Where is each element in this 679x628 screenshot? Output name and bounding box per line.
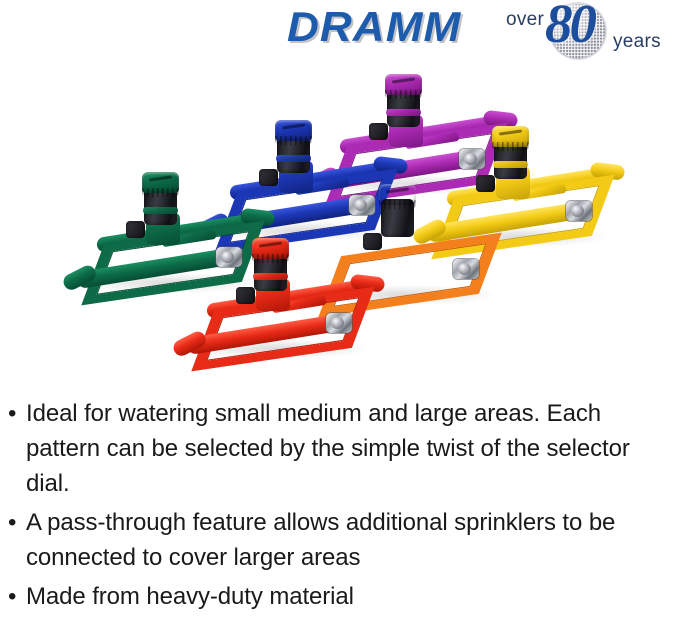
bullet-icon: • [8,396,16,431]
hose-fitting-icon [453,259,479,279]
bullet-icon: • [8,579,16,614]
side-knob-icon [126,221,145,238]
sprinkler-body-ring [253,273,288,280]
feature-text: Made from heavy-duty material [26,583,354,610]
selector-dial-ridges [492,142,529,151]
sprinkler-body-ring [386,109,421,116]
badge-years-label: years [613,31,661,53]
sprinkler-body-ring [380,219,415,226]
selector-dial-ridges [252,254,289,263]
sprinkler-body-ring [493,161,528,168]
feature-item: •A pass-through feature allows additiona… [0,505,665,575]
selector-dial-ridges [385,90,422,99]
badge-over-label: over [506,9,544,31]
feature-text: A pass-through feature allows additional… [26,509,615,571]
hose-fitting-icon [566,201,592,221]
feature-text: Ideal for watering small medium and larg… [26,400,630,497]
logo-bar: DRAMM over 80 years [0,0,679,62]
sprinkler-body-ring [276,155,311,162]
bullet-icon: • [8,505,16,540]
sprinkler-red [180,243,380,375]
selector-dial-ridges [379,200,416,209]
selector-dial-ridges [275,136,312,145]
selector-dial-ridges [142,188,179,197]
feature-list: •Ideal for watering small medium and lar… [0,396,679,618]
dramm-wordmark: DRAMM [287,6,461,48]
hose-fitting-icon [326,313,352,333]
feature-item: •Ideal for watering small medium and lar… [0,396,665,501]
feature-item: •Made from heavy-duty material [0,579,665,614]
product-photo [0,55,679,385]
side-knob-icon [236,287,255,304]
anniversary-badge: over 80 years [503,2,679,62]
badge-number: 80 [545,0,594,51]
sprinkler-body-ring [143,207,178,214]
